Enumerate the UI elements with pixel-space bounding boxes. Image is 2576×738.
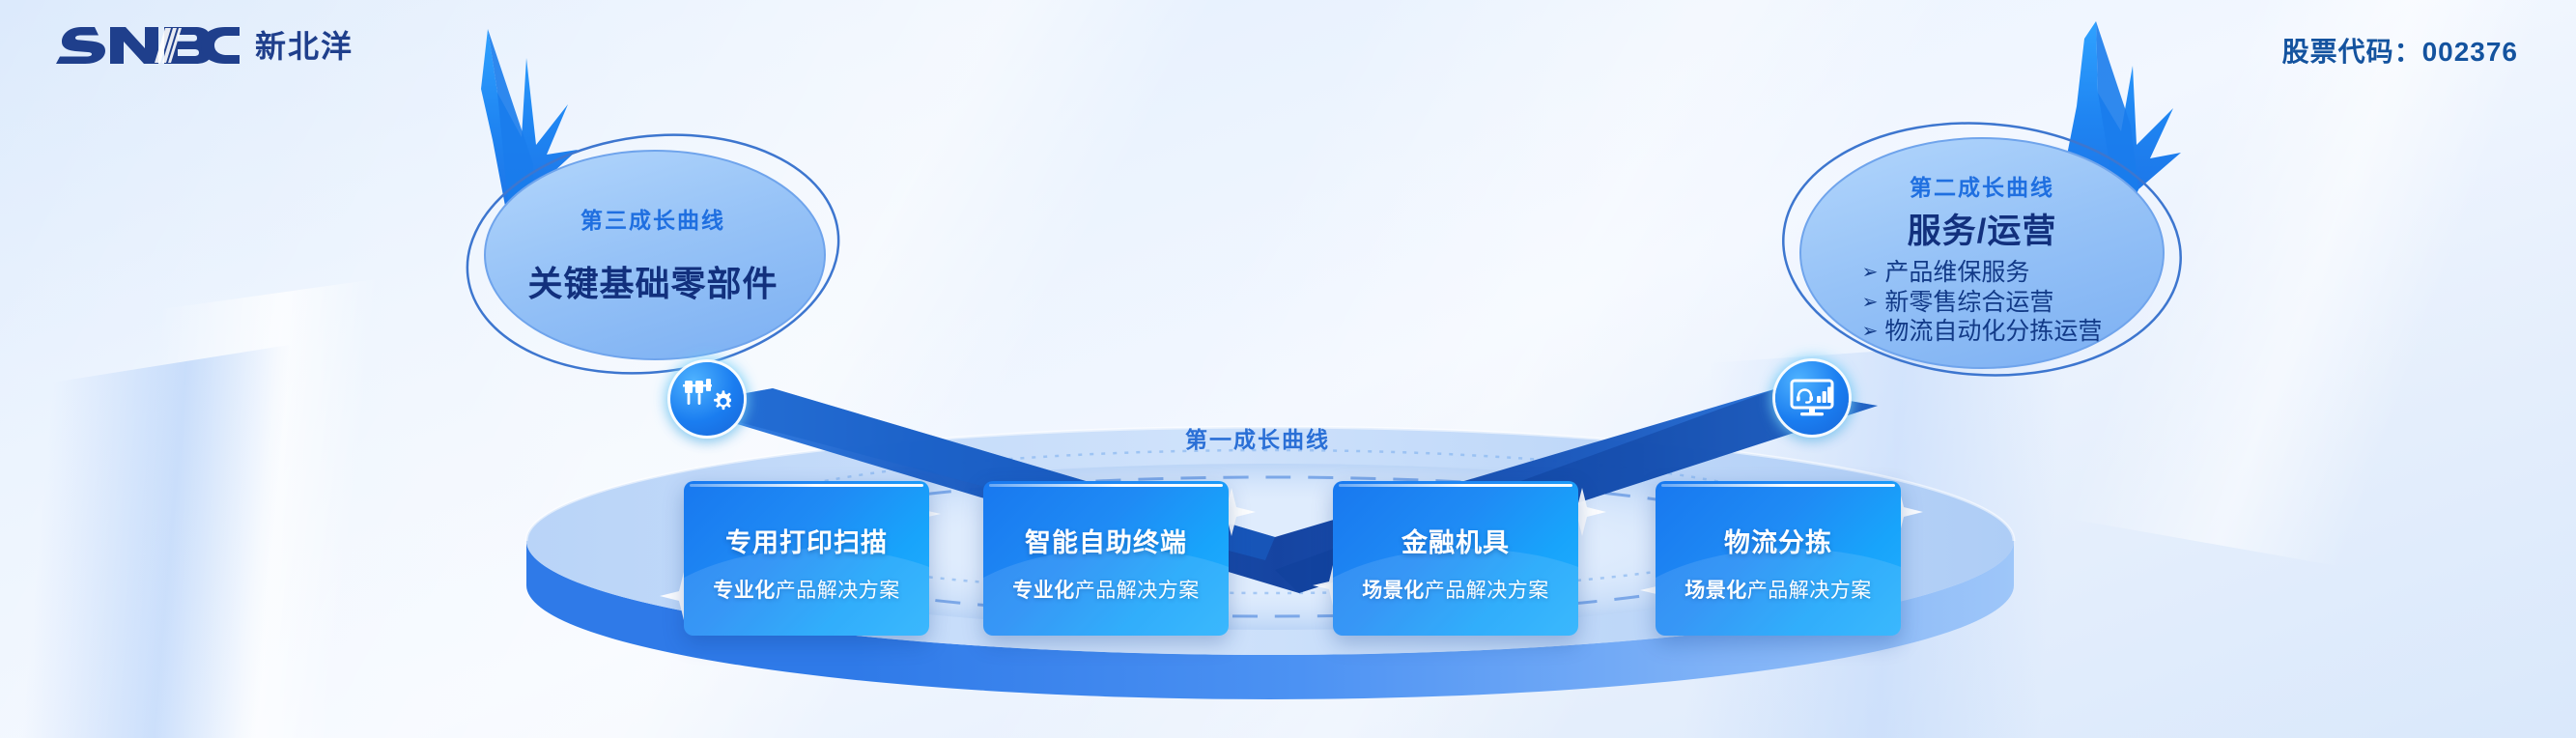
list-item: ➢ 产品维保服务: [1862, 259, 2030, 288]
components-gear-badge[interactable]: [670, 362, 744, 436]
second-curve-bubble[interactable]: 第二成长曲线 服务/运营 ➢ 产品维保服务 ➢ 新零售综合运营 ➢ 物流自动化分…: [1802, 135, 2162, 377]
card-title: 智能自助终端: [1025, 522, 1187, 559]
list-item-label: 物流自动化分拣运营: [1884, 318, 2102, 347]
product-card-self-service-terminal[interactable]: 智能自助终端 专业化产品解决方案: [983, 481, 1229, 636]
second-curve-title: 服务/运营: [1908, 204, 2057, 253]
product-card-logistics-sorting[interactable]: 物流分拣 场景化产品解决方案: [1656, 481, 1901, 636]
card-title: 专用打印扫描: [725, 522, 888, 559]
card-top-edge: [690, 484, 923, 487]
card-subtitle: 专业化产品解决方案: [713, 575, 900, 604]
card-top-edge: [989, 484, 1223, 487]
second-curve-bullet-list: ➢ 产品维保服务 ➢ 新零售综合运营 ➢ 物流自动化分拣运营: [1862, 259, 2103, 347]
card-title: 物流分拣: [1724, 522, 1832, 559]
card-subtitle: 场景化产品解决方案: [1362, 575, 1549, 604]
card-top-edge: [1661, 484, 1895, 487]
card-subtitle-rest: 产品解决方案: [1075, 580, 1200, 602]
second-curve-subtitle: 第二成长曲线: [1910, 169, 2054, 202]
growth-curve-diagram: [0, 0, 2576, 738]
product-card-printing-scanning[interactable]: 专用打印扫描 专业化产品解决方案: [684, 481, 929, 636]
list-item-label: 新零售综合运营: [1884, 289, 2053, 318]
card-top-edge: [1339, 484, 1572, 487]
chevron-right-icon: ➢: [1862, 263, 1879, 282]
card-subtitle-strong: 专业化: [713, 580, 776, 602]
first-curve-label: 第一成长曲线: [1185, 421, 1330, 454]
card-subtitle-strong: 专业化: [1012, 580, 1075, 602]
card-subtitle-strong: 场景化: [1362, 580, 1425, 602]
card-subtitle-strong: 场景化: [1684, 580, 1747, 602]
snbc-logo-icon: [56, 21, 240, 68]
list-item-label: 产品维保服务: [1884, 259, 2029, 288]
brand-logo[interactable]: 新北洋: [56, 21, 354, 68]
service-operations-badge[interactable]: [1775, 361, 1849, 435]
list-item: ➢ 物流自动化分拣运营: [1862, 318, 2103, 347]
card-subtitle: 专业化产品解决方案: [1012, 575, 1200, 604]
third-curve-bubble[interactable]: 第三成长曲线 关键基础零部件: [483, 150, 823, 358]
list-item: ➢ 新零售综合运营: [1862, 289, 2054, 318]
third-curve-subtitle: 第三成长曲线: [580, 202, 725, 235]
card-title: 金融机具: [1401, 522, 1510, 559]
poster-canvas: 新北洋 股票代码：002376 第一成长曲线 第三成长曲线 关键基础零部件 第二…: [0, 0, 2576, 738]
brand-logo-chinese-text: 新北洋: [255, 22, 354, 67]
components-gear-icon: [683, 377, 731, 421]
service-monitor-headset-chart-icon: [1788, 376, 1836, 420]
third-curve-title: 关键基础零部件: [527, 256, 778, 306]
card-subtitle-rest: 产品解决方案: [776, 580, 900, 602]
product-card-financial-equipment[interactable]: 金融机具 场景化产品解决方案: [1333, 481, 1578, 636]
card-subtitle-rest: 产品解决方案: [1747, 580, 1872, 602]
card-subtitle-rest: 产品解决方案: [1425, 580, 1549, 602]
stock-code-label: 股票代码：002376: [2282, 31, 2518, 70]
chevron-right-icon: ➢: [1862, 322, 1879, 341]
chevron-right-icon: ➢: [1862, 293, 1879, 312]
card-subtitle: 场景化产品解决方案: [1684, 575, 1872, 604]
